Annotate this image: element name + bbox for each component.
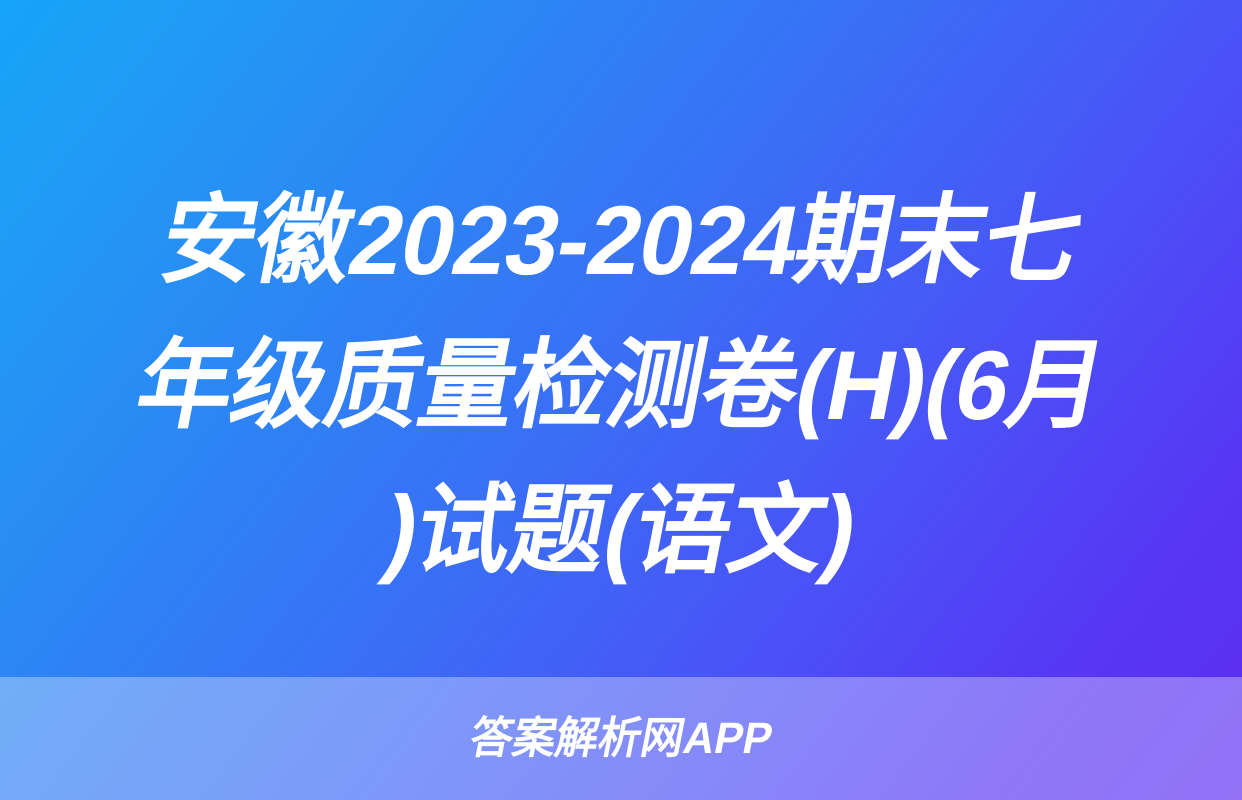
- exam-paper-cover-poster: 安徽2023-2024期末七 年级质量检测卷(H)(6月 )试题(语文) 答案解…: [0, 0, 1242, 800]
- title-line-2: 年级质量检测卷(H)(6月: [61, 313, 1181, 458]
- app-watermark-label: 答案解析网APP: [466, 716, 776, 762]
- title-line-3: )试题(语文): [61, 458, 1181, 603]
- app-watermark-band: 答案解析网APP: [0, 677, 1242, 800]
- page-title: 安徽2023-2024期末七 年级质量检测卷(H)(6月 )试题(语文): [0, 168, 1242, 603]
- title-line-1: 安徽2023-2024期末七: [61, 168, 1181, 313]
